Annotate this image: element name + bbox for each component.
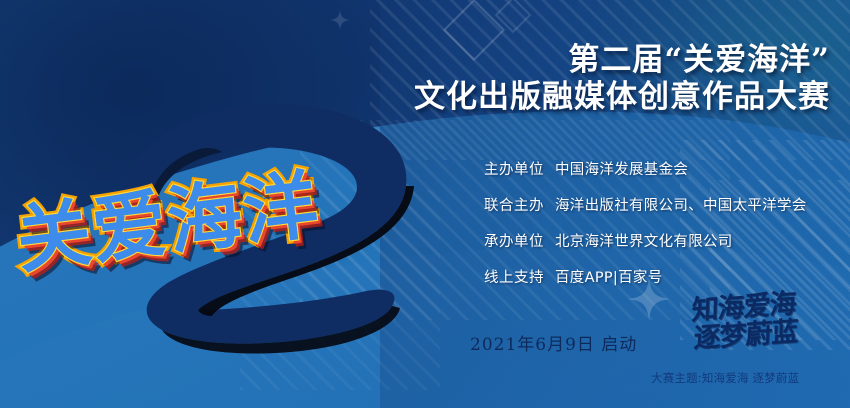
poster-canvas: 第二届“关爱海洋” 文化出版融媒体创意作品大赛 关爱海洋 关爱海洋 关爱海洋 主… xyxy=(0,0,850,408)
organizer-value: 海洋出版社有限公司、中国太平洋学会 xyxy=(555,194,807,215)
organizer-row: 主办单位 中国海洋发展基金会 xyxy=(470,158,807,179)
organizer-list: 主办单位 中国海洋发展基金会 联合主办 海洋出版社有限公司、中国太平洋学会 承办… xyxy=(470,158,807,302)
organizer-row: 线上支持 百度APP|百家号 xyxy=(470,266,807,287)
poster-headline: 第二届“关爱海洋” 文化出版融媒体创意作品大赛 xyxy=(414,42,830,115)
organizer-label: 承办单位 xyxy=(470,230,544,251)
organizer-value: 百度APP|百家号 xyxy=(555,266,663,287)
organizer-label: 主办单位 xyxy=(470,158,544,179)
headline-line-2: 文化出版融媒体创意作品大赛 xyxy=(414,79,830,116)
organizer-value: 北京海洋世界文化有限公司 xyxy=(555,230,733,251)
organizer-row: 承办单位 北京海洋世界文化有限公司 xyxy=(470,230,807,251)
calligraphy-slogan: 知海爱海 逐梦蔚蓝 xyxy=(667,289,819,355)
organizer-label: 联合主办 xyxy=(470,194,544,215)
organizer-value: 中国海洋发展基金会 xyxy=(555,158,688,179)
theme-caption: 大赛主题:知海爱海 逐梦蔚蓝 xyxy=(651,370,799,386)
organizer-row: 联合主办 海洋出版社有限公司、中国太平洋学会 xyxy=(470,194,807,215)
launch-date: 2021年6月9日 启动 xyxy=(470,330,637,355)
headline-line-1: 第二届“关爱海洋” xyxy=(414,42,830,79)
organizer-label: 线上支持 xyxy=(470,266,544,287)
